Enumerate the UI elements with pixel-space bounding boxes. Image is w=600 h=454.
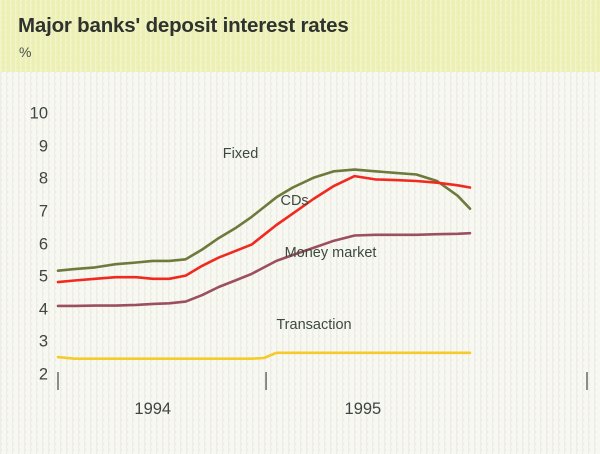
y-tick-label: 4: [14, 300, 48, 319]
y-tick-label: 9: [14, 137, 48, 156]
y-tick-label: 6: [14, 235, 48, 254]
y-tick-label: 8: [14, 170, 48, 189]
x-tick-label: 1995: [345, 400, 382, 419]
series-line-money-market: [58, 233, 470, 306]
y-tick-label: 7: [14, 203, 48, 222]
x-tick-label: 1994: [134, 400, 171, 419]
series-lines: [58, 170, 470, 359]
chart-figure: Major banks' deposit interest rates % 10…: [0, 0, 600, 454]
chart-canvas: [0, 0, 600, 454]
y-tick-label: 2: [14, 366, 48, 385]
series-label-transaction: Transaction: [276, 317, 351, 333]
y-tick-label: 10: [14, 105, 48, 124]
series-line-fixed: [58, 170, 470, 271]
axis-tick-marks: [58, 372, 587, 390]
y-tick-label: 3: [14, 333, 48, 352]
series-line-transaction: [58, 353, 470, 359]
series-label-fixed: Fixed: [223, 146, 258, 162]
series-label-money-market: Money market: [285, 245, 377, 261]
y-tick-label: 5: [14, 268, 48, 287]
series-label-cds: CDs: [280, 193, 308, 209]
